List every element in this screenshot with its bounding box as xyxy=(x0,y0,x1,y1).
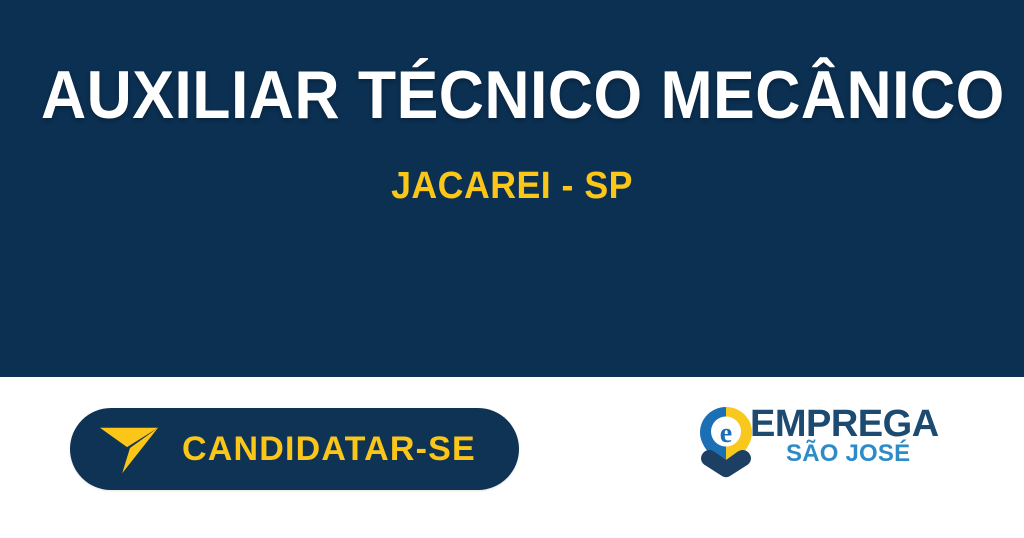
page-title: AUXILIAR TÉCNICO MECÂNICO xyxy=(41,54,983,136)
job-location: JACAREI - SP xyxy=(31,163,994,209)
hero-section: AUXILIAR TÉCNICO MECÂNICO JACAREI - SP xyxy=(0,0,1024,377)
apply-button-label: CANDIDATAR-SE xyxy=(182,430,476,469)
brand-subtitle: SÃO JOSÉ xyxy=(786,441,910,467)
brand-wordmark: EMPREGA SÃO JOSÉ xyxy=(750,404,906,480)
brand-logo[interactable]: e EMPREGA SÃO JOSÉ xyxy=(698,400,904,486)
map-pin-e-icon: e xyxy=(698,406,754,478)
svg-text:e: e xyxy=(720,418,732,449)
job-posting-banner: AUXILIAR TÉCNICO MECÂNICO JACAREI - SP C… xyxy=(0,0,1024,538)
brand-name: EMPREGA xyxy=(750,404,939,444)
send-paper-plane-icon xyxy=(98,418,160,480)
footer-section: CANDIDATAR-SE e EMPREGA SÃO JOSÉ xyxy=(0,377,1024,538)
apply-button[interactable]: CANDIDATAR-SE xyxy=(70,408,519,490)
